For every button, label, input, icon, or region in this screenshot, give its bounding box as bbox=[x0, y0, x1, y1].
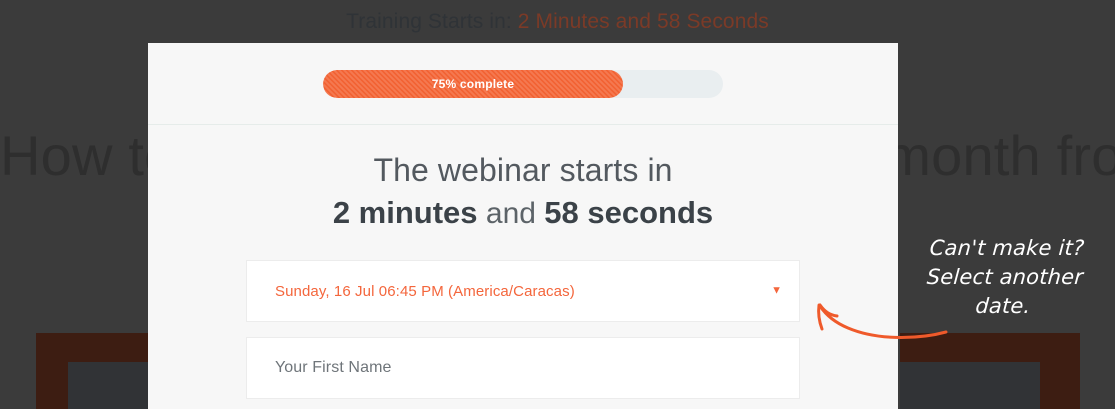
annotation-line-2: Select another bbox=[904, 263, 1106, 292]
annotation-text: Can't make it? Select another date. bbox=[902, 234, 1108, 321]
registration-modal: 75% complete The webinar starts in 2 min… bbox=[148, 43, 898, 409]
modal-body: The webinar starts in 2 minutes and 58 s… bbox=[148, 151, 898, 399]
modal-header: 75% complete bbox=[148, 43, 898, 125]
annotation-line-1: Can't make it? bbox=[906, 234, 1108, 263]
progress-bar-label: 75% complete bbox=[432, 77, 514, 91]
background-image-inner-right bbox=[900, 362, 1040, 409]
webinar-registration-screen: Training Starts in: 2 Minutes and 58 Sec… bbox=[0, 0, 1115, 409]
countdown-seconds-value: 58 seconds bbox=[544, 195, 713, 230]
annotation-line-3: date. bbox=[902, 292, 1104, 321]
progress-bar-fill: 75% complete bbox=[323, 70, 623, 98]
chevron-down-icon: ▼ bbox=[771, 286, 782, 297]
background-countdown-bar: Training Starts in: 2 Minutes and 58 Sec… bbox=[0, 0, 1115, 43]
countdown-prefix-label: Training Starts in: bbox=[346, 10, 512, 34]
first-name-input[interactable]: Your First Name bbox=[246, 337, 800, 399]
webinar-countdown-heading: The webinar starts in 2 minutes and 58 s… bbox=[148, 151, 898, 234]
countdown-heading-line2: 2 minutes and 58 seconds bbox=[148, 193, 898, 234]
countdown-conjunction: and bbox=[486, 197, 536, 230]
countdown-heading-line1: The webinar starts in bbox=[148, 151, 898, 189]
webinar-date-select[interactable]: Sunday, 16 Jul 06:45 PM (America/Caracas… bbox=[246, 260, 800, 322]
countdown-minutes-value: 2 minutes bbox=[333, 195, 478, 230]
first-name-placeholder: Your First Name bbox=[247, 359, 392, 377]
webinar-date-select-value: Sunday, 16 Jul 06:45 PM (America/Caracas… bbox=[247, 283, 575, 300]
progress-bar: 75% complete bbox=[323, 70, 723, 98]
countdown-value-label: 2 Minutes and 58 Seconds bbox=[518, 10, 769, 34]
